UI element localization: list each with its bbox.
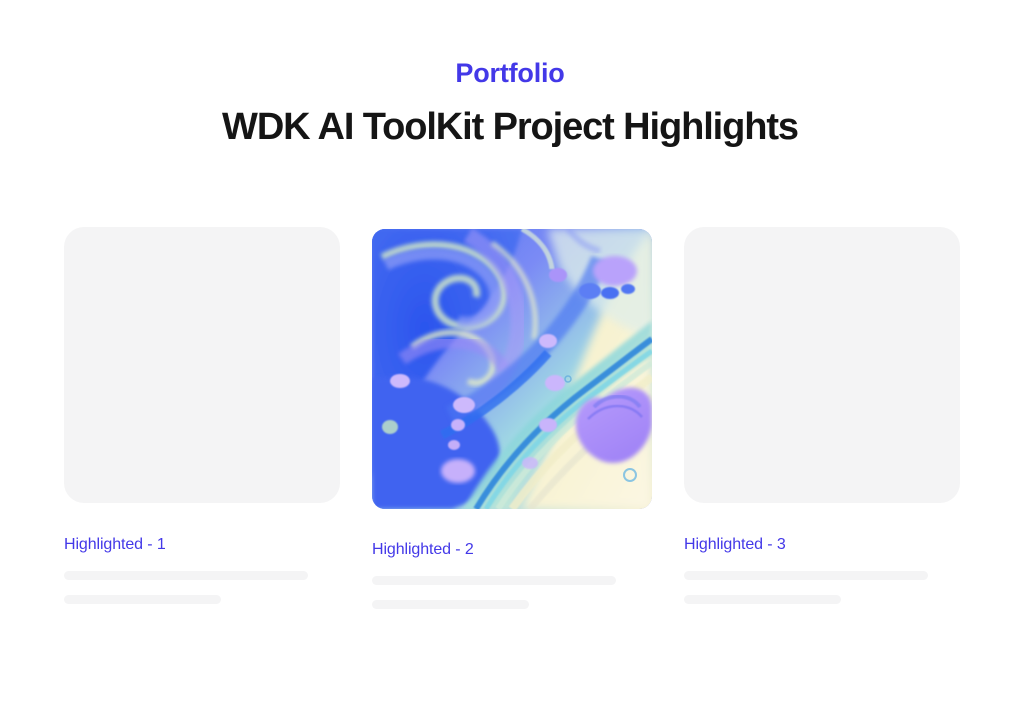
highlight-caption-2: Highlighted - 2 — [372, 540, 652, 559]
text-line-short-3 — [684, 595, 841, 604]
thumbnail-placeholder-3[interactable] — [684, 227, 960, 503]
highlight-caption-1: Highlighted - 1 — [64, 535, 340, 554]
text-line-short-1 — [64, 595, 221, 604]
text-line-long-1 — [64, 571, 308, 580]
thumbnail-placeholder-1[interactable] — [64, 227, 340, 503]
page-header: Portfolio WDK AI ToolKit Project Highlig… — [0, 60, 1020, 150]
highlight-caption-3: Highlighted - 3 — [684, 535, 960, 554]
portfolio-highlights-page: Portfolio WDK AI ToolKit Project Highlig… — [0, 0, 1020, 720]
highlight-card-1[interactable]: Highlighted - 1 — [64, 227, 340, 604]
text-placeholder-bars-2 — [372, 576, 652, 609]
text-placeholder-bars-3 — [684, 571, 960, 604]
page-eyebrow: Portfolio — [0, 60, 1020, 87]
highlight-card-3[interactable]: Highlighted - 3 — [684, 227, 960, 604]
highlight-card-2[interactable]: Highlighted - 2 — [372, 227, 652, 609]
page-title: WDK AI ToolKit Project Highlights — [0, 105, 1020, 150]
marbled-liquid-art-icon — [372, 229, 652, 509]
thumbnail-image-2[interactable] — [372, 229, 652, 509]
text-line-short-2 — [372, 600, 529, 609]
highlights-card-grid: Highlighted - 1 — [64, 227, 956, 609]
text-line-long-3 — [684, 571, 928, 580]
text-line-long-2 — [372, 576, 616, 585]
text-placeholder-bars-1 — [64, 571, 340, 604]
